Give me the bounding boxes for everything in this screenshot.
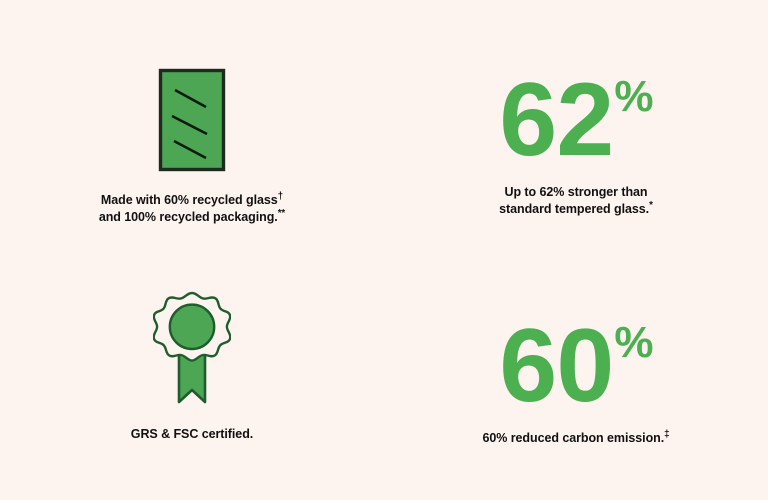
footnote-marker: * xyxy=(649,199,653,210)
caption-line: 60% reduced carbon emission.‡ xyxy=(482,430,669,447)
caption-line: Made with 60% recycled glass† xyxy=(99,192,285,209)
footnote-marker: ** xyxy=(278,207,285,218)
feature-caption-stronger-glass: Up to 62% stronger than standard tempere… xyxy=(499,184,653,217)
feature-card-stronger-glass: 62% Up to 62% stronger than standard tem… xyxy=(384,0,768,250)
feature-card-recycled-glass: Made with 60% recycled glass† and 100% r… xyxy=(0,0,384,250)
caption-line: standard tempered glass.* xyxy=(499,201,653,218)
stat-visual-62: 62% xyxy=(499,52,652,164)
stat-60: 60% xyxy=(499,323,652,410)
certified-rosette-badge-icon xyxy=(153,290,231,408)
feature-card-certifications: GRS & FSC certified. xyxy=(0,250,384,500)
stat-number: 62 xyxy=(499,77,613,164)
certification-badge-visual xyxy=(153,296,231,408)
caption-line: Up to 62% stronger than xyxy=(499,184,653,201)
feature-caption-certifications: GRS & FSC certified. xyxy=(131,426,253,443)
recycled-glass-panel-icon xyxy=(158,68,226,172)
stat-visual-60: 60% xyxy=(499,298,652,410)
stat-62: 62% xyxy=(499,77,652,164)
feature-caption-recycled-glass: Made with 60% recycled glass† and 100% r… xyxy=(99,192,285,225)
badge-inner-circle xyxy=(170,305,214,349)
stat-percent-sign: % xyxy=(614,79,652,116)
sustainability-highlights-board: Made with 60% recycled glass† and 100% r… xyxy=(0,0,768,500)
feature-caption-carbon-emission: 60% reduced carbon emission.‡ xyxy=(482,430,669,447)
caption-line: and 100% recycled packaging.** xyxy=(99,209,285,226)
footnote-marker: ‡ xyxy=(664,429,669,440)
footnote-marker: † xyxy=(278,191,283,202)
caption-line: GRS & FSC certified. xyxy=(131,426,253,443)
feature-card-carbon-emission: 60% 60% reduced carbon emission.‡ xyxy=(384,250,768,500)
stat-number: 60 xyxy=(499,323,613,410)
stat-percent-sign: % xyxy=(614,325,652,362)
recycled-glass-visual xyxy=(158,60,226,172)
